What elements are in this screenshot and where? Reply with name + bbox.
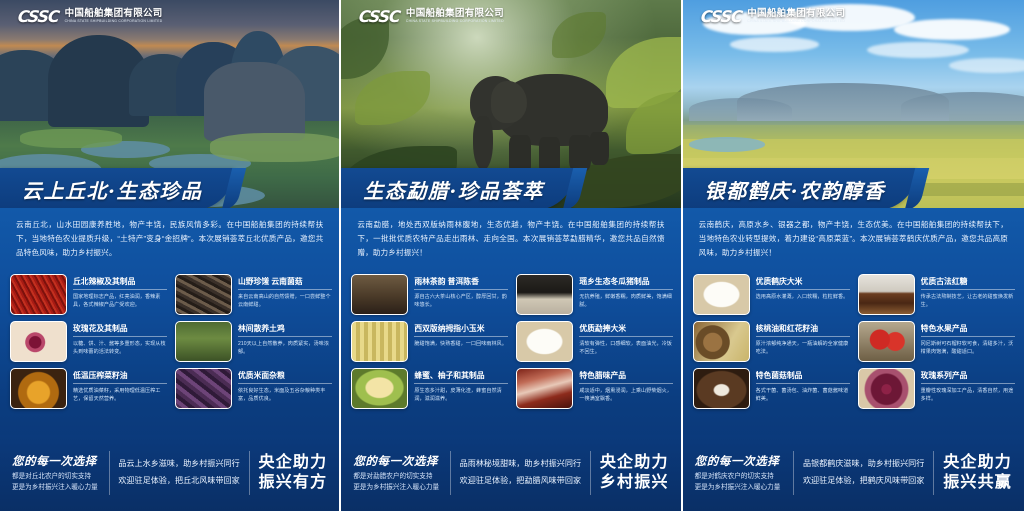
cssc-logo-mark: CSSC — [17, 7, 60, 26]
footer-headline-block: 央企助力 乡村振兴 — [591, 453, 669, 493]
cssc-logo: CSSC 中国船舶集团有限公司 CHINA STATE SHIPBUILDING… — [701, 7, 846, 26]
product-name: 西双版纳拇指小玉米 — [414, 324, 508, 337]
footer-big-line2: 乡村振兴 — [600, 473, 669, 493]
panel-qiubei: CSSC 中国船舶集团有限公司 CHINA STATE SHIPBUILDING… — [0, 0, 341, 511]
product-desc: 选用高原水灌溉，入口软糯，粒粒鲜香。 — [756, 290, 850, 301]
rose-product-thumb — [858, 368, 915, 409]
footer-slogan-block: 您的每一次选择 都是对鹤庆农户的切实支持 更是为乡村振兴注入暖心力量 — [695, 453, 793, 493]
product-name: 特色腊味产品 — [579, 371, 673, 384]
footer-invite-block: 品银都鹤庆滋味，助乡村振兴同行 欢迎驻足体验，把鹤庆风味带回家 — [794, 456, 933, 490]
hero-heqing: CSSC 中国船舶集团有限公司 CHINA STATE SHIPBUILDING… — [683, 0, 1024, 208]
product-desc: 以糖、饼、汁、酱等多重形态，实现从枝头到味蕾的活法转变。 — [73, 337, 167, 356]
product-card[interactable]: 优质米面杂粮 依托良好生态，米面及五谷杂粮种类丰富，品质优良。 — [175, 368, 332, 409]
grain-thumb — [175, 368, 232, 409]
title-ribbon-mengla: 生态勐腊·珍品荟萃 — [341, 168, 575, 208]
title-ribbon-heqing: 银都鹤庆·农韵醇香 — [683, 168, 917, 208]
panel-footer-mengla: 您的每一次选择 都是对勐腊农户的切实支持 更是为乡村振兴注入暖心力量 品雨林秘境… — [341, 435, 680, 511]
product-desc: 脆甜饱满，快熟香甜，一口回味雨林风。 — [414, 337, 508, 348]
fruit-thumb — [858, 321, 915, 362]
puer-tea-thumb — [351, 274, 408, 315]
cssc-logo-text: 中国船舶集团有限公司 CHINA STATE SHIPBUILDING CORP… — [747, 9, 845, 23]
walnut-oil-thumb — [693, 321, 750, 362]
product-name: 优质古法红糖 — [921, 277, 1015, 290]
product-desc: 精选优质油菜籽，采用物理低温压榨工艺，保留天然营养。 — [73, 384, 167, 403]
rose-thumb — [10, 321, 67, 362]
product-name: 玫瑰花及其制品 — [73, 324, 167, 337]
product-card[interactable]: 优质勐捧大米 清软有弹性，口感细软，表面油光，冷饭不回生。 — [516, 321, 673, 362]
cssc-logo-mark: CSSC — [700, 7, 743, 26]
product-desc: 依托良好生态，米面及五谷杂粮种类丰富，品质优良。 — [238, 384, 332, 403]
product-card[interactable]: 特色菌菇制品 各式干菌、菌汤包、油炸菌、菌菇酱味道鲜美。 — [693, 368, 850, 409]
product-card[interactable]: 丘北辣椒及其制品 国家地理标志产品，红亮油润，香辣素具，各式辣椒产品广受欢迎。 — [10, 274, 167, 315]
product-name: 林间散养土鸡 — [238, 324, 332, 337]
footer-slogan-block: 您的每一次选择 都是对勐腊农户的切实支持 更是为乡村振兴注入暖心力量 — [353, 453, 450, 493]
footer-script: 您的每一次选择 — [12, 453, 101, 469]
footer-sub-line2: 更是为乡村振兴注入暖心力量 — [353, 483, 442, 494]
cssc-company-cn: 中国船舶集团有限公司 — [747, 9, 845, 19]
footer-mid-line1: 品银都鹤庆滋味，助乡村振兴同行 — [803, 456, 924, 473]
product-card[interactable]: 玫瑰系列产品 重瓣性玫瑰深加工产品，清香自然，用途多样。 — [858, 368, 1015, 409]
title-ribbon-qiubei: 云上丘北·生态珍品 — [0, 168, 234, 208]
panel-intro: 云南丘北，山水田园康养胜地，物产丰饶，民族风情多彩。在中国船舶集团的持续帮扶下，… — [0, 214, 339, 259]
product-name: 优质鹤庆大米 — [756, 277, 850, 290]
footer-script: 您的每一次选择 — [695, 453, 785, 469]
chicken-thumb — [175, 321, 232, 362]
product-desc: 清软有弹性，口感细软，表面油光，冷饭不回生。 — [579, 337, 673, 356]
footer-mid-line2: 欢迎驻足体验，把丘北风味带回家 — [118, 473, 239, 490]
panel-intro: 云南勐腊，地处西双版纳雨林腹地，生态优越，物产丰饶。在中国船舶集团的持续帮扶下，… — [341, 214, 680, 259]
footer-big-line1: 央企助力 — [943, 453, 1012, 473]
panel-footer-heqing: 您的每一次选择 都是对鹤庆农户的切实支持 更是为乡村振兴注入暖心力量 品银都鹤庆… — [683, 435, 1024, 511]
hero-qiubei: CSSC 中国船舶集团有限公司 CHINA STATE SHIPBUILDING… — [0, 0, 339, 208]
cssc-company-en: CHINA STATE SHIPBUILDING CORPORATION LIM… — [65, 19, 163, 23]
product-desc: 国家地理标志产品，红亮油润，香辣素具，各式辣椒产品广受欢迎。 — [73, 290, 167, 309]
product-desc: 210天以上自然散养，肉质紧实，汤味浓郁。 — [238, 337, 332, 356]
footer-mid-line2: 欢迎驻足体验，把勐腊风味带回家 — [460, 473, 581, 490]
poster-row: CSSC 中国船舶集团有限公司 CHINA STATE SHIPBUILDING… — [0, 0, 1024, 511]
panel-title: 银都鹤庆·农韵醇香 — [683, 175, 885, 204]
footer-mid-line1: 品云上水乡滋味，助乡村振兴同行 — [118, 456, 239, 473]
panel-heqing: CSSC 中国船舶集团有限公司 CHINA STATE SHIPBUILDING… — [683, 0, 1024, 511]
footer-mid-line1: 品雨林秘境甜味，助乡村振兴同行 — [460, 456, 581, 473]
product-card[interactable]: 核桃油和红花籽油 原汁浓郁纯净通天，一瓶油解的全家健康吃法。 — [693, 321, 850, 362]
product-desc: 无抗养殖，鲜嫩香糯，肉质鲜美，饱满细腻。 — [579, 290, 673, 309]
product-desc: 咸淡适中，烟熏浸润，上乘山野柴烟火，一筷满室飘香。 — [579, 384, 673, 403]
product-name: 优质米面杂粮 — [238, 371, 332, 384]
footer-big-line2: 振兴有方 — [259, 473, 328, 493]
product-desc: 来自云南高山的自然馈赠，一口尝鲜整个云南鲜甜。 — [238, 290, 332, 309]
mushroom-thumb — [175, 274, 232, 315]
cssc-company-cn: 中国船舶集团有限公司 — [65, 9, 163, 19]
fungus-thumb — [693, 368, 750, 409]
product-desc: 重瓣性玫瑰深加工产品，清香自然，用途多样。 — [921, 384, 1015, 403]
rapeseed-oil-thumb — [10, 368, 67, 409]
cssc-company-en: CHINA STATE SHIPBUILDING CORPORATION LIM… — [747, 19, 845, 23]
product-name: 特色水果产品 — [921, 324, 1015, 337]
footer-headline-block: 央企助力 振兴有方 — [250, 453, 328, 493]
product-card[interactable]: 优质鹤庆大米 选用高原水灌溉，入口软糯，粒粒鲜香。 — [693, 274, 850, 315]
footer-sub-line2: 更是为乡村振兴注入暖心力量 — [695, 483, 785, 494]
product-card[interactable]: 蜂蜜、柚子和其制品 原生态多汁甜，皮薄化渣，蜂蜜自然清润，滋润滋养。 — [351, 368, 508, 409]
footer-headline-block: 央企助力 振兴共赢 — [934, 453, 1012, 493]
product-name: 瑶乡生态冬瓜猪制品 — [579, 277, 673, 290]
product-desc: 冈尼斯树可石榴籽软可食，清甜多汁，沃柑果肉饱满，酸甜适口。 — [921, 337, 1015, 356]
product-desc: 传承古法熬制技艺，让古老的甜蜜焕发新生。 — [921, 290, 1015, 309]
corn-thumb — [351, 321, 408, 362]
product-name: 特色菌菇制品 — [756, 371, 850, 384]
product-desc: 各式干菌、菌汤包、油炸菌、菌菇酱味道鲜美。 — [756, 384, 850, 403]
hero-mengla: CSSC 中国船舶集团有限公司 CHINA STATE SHIPBUILDING… — [341, 0, 680, 208]
product-name: 丘北辣椒及其制品 — [73, 277, 167, 290]
cssc-logo: CSSC 中国船舶集团有限公司 CHINA STATE SHIPBUILDING… — [359, 7, 504, 26]
panel-footer-qiubei: 您的每一次选择 都是对丘北农户的切实支持 更是为乡村振兴注入暖心力量 品云上水乡… — [0, 435, 339, 511]
product-grid-heqing: 优质鹤庆大米 选用高原水灌溉，入口软糯，粒粒鲜香。 优质古法红糖 传承古法熬制技… — [693, 274, 1015, 409]
panel-title: 云上丘北·生态珍品 — [0, 175, 202, 204]
product-card[interactable]: 特色水果产品 冈尼斯树可石榴籽软可食，清甜多汁，沃柑果肉饱满，酸甜适口。 — [858, 321, 1015, 362]
product-card[interactable]: 瑶乡生态冬瓜猪制品 无抗养殖，鲜嫩香糯，肉质鲜美，饱满细腻。 — [516, 274, 673, 315]
elephant-silhouette — [470, 62, 619, 178]
product-card[interactable]: 优质古法红糖 传承古法熬制技艺，让古老的甜蜜焕发新生。 — [858, 274, 1015, 315]
product-grid-mengla: 雨林茶韵 普洱陈香 源自古六大茶山核心产区，醇厚回甘，韵味悠长。 瑶乡生态冬瓜猪… — [351, 274, 673, 409]
footer-big-line2: 振兴共赢 — [943, 473, 1012, 493]
cssc-logo-mark: CSSC — [358, 7, 401, 26]
panel-title: 生态勐腊·珍品荟萃 — [341, 175, 543, 204]
footer-invite-block: 品云上水乡滋味，助乡村振兴同行 欢迎驻足体验，把丘北风味带回家 — [109, 456, 248, 490]
product-name: 优质勐捧大米 — [579, 324, 673, 337]
product-card[interactable]: 雨林茶韵 普洱陈香 源自古六大茶山核心产区，醇厚回甘，韵味悠长。 — [351, 274, 508, 315]
footer-slogan-block: 您的每一次选择 都是对丘北农户的切实支持 更是为乡村振兴注入暖心力量 — [12, 453, 109, 493]
heqing-rice-thumb — [693, 274, 750, 315]
footer-invite-block: 品雨林秘境甜味，助乡村振兴同行 欢迎驻足体验，把勐腊风味带回家 — [451, 456, 590, 490]
footer-sub-line1: 都是对勐腊农户的切实支持 — [353, 472, 442, 483]
brown-sugar-thumb — [858, 274, 915, 315]
product-card[interactable]: 玫瑰花及其制品 以糖、饼、汁、酱等多重形态，实现从枝头到味蕾的活法转变。 — [10, 321, 167, 362]
cured-meat-thumb — [516, 368, 573, 409]
cssc-company-cn: 中国船舶集团有限公司 — [406, 9, 504, 19]
product-card[interactable]: 林间散养土鸡 210天以上自然散养，肉质紧实，汤味浓郁。 — [175, 321, 332, 362]
cssc-logo-text: 中国船舶集团有限公司 CHINA STATE SHIPBUILDING CORP… — [65, 9, 163, 23]
product-name: 山野珍馐 云南菌菇 — [238, 277, 332, 290]
chili-thumb — [10, 274, 67, 315]
product-card[interactable]: 山野珍馐 云南菌菇 来自云南高山的自然馈赠，一口尝鲜整个云南鲜甜。 — [175, 274, 332, 315]
product-name: 低温压榨菜籽油 — [73, 371, 167, 384]
product-name: 蜂蜜、柚子和其制品 — [414, 371, 508, 384]
cssc-logo-text: 中国船舶集团有限公司 CHINA STATE SHIPBUILDING CORP… — [406, 9, 504, 23]
product-desc: 原生态多汁甜，皮薄化渣，蜂蜜自然清润，滋润滋养。 — [414, 384, 508, 403]
footer-sub-line1: 都是对鹤庆农户的切实支持 — [695, 472, 785, 483]
product-card[interactable]: 西双版纳拇指小玉米 脆甜饱满，快熟香甜，一口回味雨林风。 — [351, 321, 508, 362]
product-name: 玫瑰系列产品 — [921, 371, 1015, 384]
product-name: 核桃油和红花籽油 — [756, 324, 850, 337]
honey-pomelo-thumb — [351, 368, 408, 409]
panel-mengla: CSSC 中国船舶集团有限公司 CHINA STATE SHIPBUILDING… — [341, 0, 682, 511]
product-grid-qiubei: 丘北辣椒及其制品 国家地理标志产品，红亮油润，香辣素具，各式辣椒产品广受欢迎。 … — [10, 274, 332, 409]
rice-thumb — [516, 321, 573, 362]
footer-sub-line2: 更是为乡村振兴注入暖心力量 — [12, 483, 101, 494]
footer-mid-line2: 欢迎驻足体验，把鹤庆风味带回家 — [803, 473, 924, 490]
product-name: 雨林茶韵 普洱陈香 — [414, 277, 508, 290]
panel-intro: 云南鹤庆，高原水乡、银器之都，物产丰饶，生态优美。在中国船舶集团的持续帮扶下，当… — [683, 214, 1024, 259]
product-desc: 源自古六大茶山核心产区，醇厚回甘，韵味悠长。 — [414, 290, 508, 309]
cssc-company-en: CHINA STATE SHIPBUILDING CORPORATION LIM… — [406, 19, 504, 23]
footer-big-line1: 央企助力 — [259, 453, 328, 473]
product-card[interactable]: 低温压榨菜籽油 精选优质油菜籽，采用物理低温压榨工艺，保留天然营养。 — [10, 368, 167, 409]
product-desc: 原汁浓郁纯净通天，一瓶油解的全家健康吃法。 — [756, 337, 850, 356]
footer-sub-line1: 都是对丘北农户的切实支持 — [12, 472, 101, 483]
cssc-logo: CSSC 中国船舶集团有限公司 CHINA STATE SHIPBUILDING… — [18, 7, 163, 26]
footer-script: 您的每一次选择 — [353, 453, 442, 469]
footer-big-line1: 央企助力 — [600, 453, 669, 473]
product-card[interactable]: 特色腊味产品 咸淡适中，烟熏浸润，上乘山野柴烟火，一筷满室飘香。 — [516, 368, 673, 409]
pork-thumb — [516, 274, 573, 315]
